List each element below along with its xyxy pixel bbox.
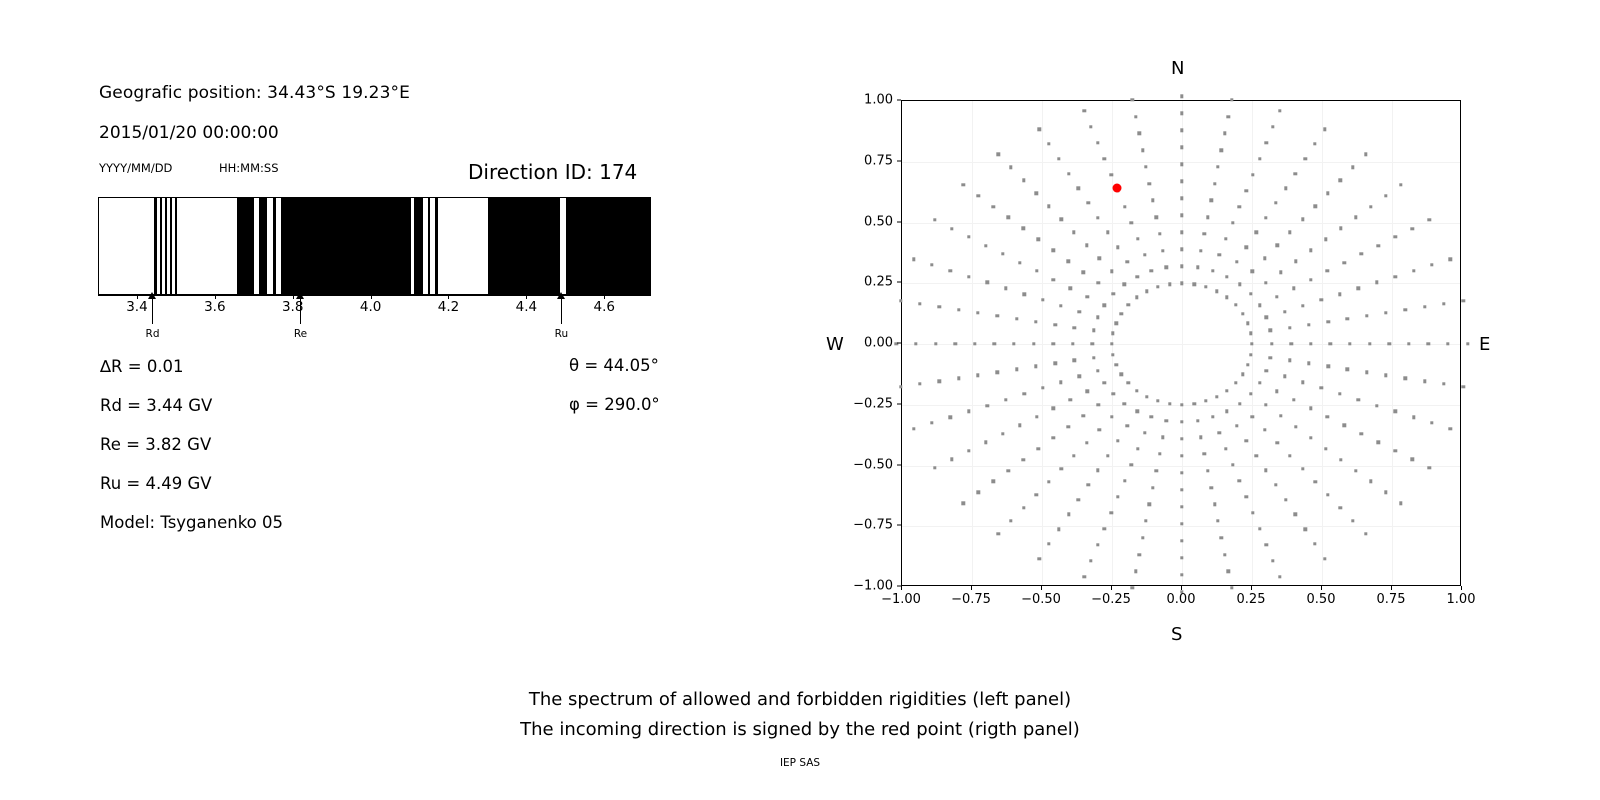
direction-point (1264, 281, 1267, 284)
direction-point (1442, 382, 1445, 385)
direction-point (1238, 479, 1241, 482)
direction-point (1301, 218, 1304, 221)
direction-point (1156, 285, 1159, 288)
gridline-horizontal (902, 466, 1460, 467)
direction-point (1151, 486, 1154, 489)
direction-point (1399, 502, 1402, 505)
direction-point (1009, 519, 1012, 522)
direction-point (1313, 480, 1316, 483)
direction-point (986, 404, 989, 407)
direction-point (1360, 252, 1363, 255)
gridline-vertical (1182, 101, 1183, 585)
direction-point (1096, 543, 1099, 546)
direction-point (1053, 323, 1056, 326)
direction-point (1412, 415, 1415, 418)
direction-point (1116, 245, 1119, 248)
direction-point (1097, 403, 1100, 406)
direction-point (1180, 214, 1183, 217)
direction-point (1351, 165, 1354, 168)
direction-point (1249, 353, 1252, 356)
direction-point (1083, 575, 1086, 578)
direction-point (1369, 480, 1372, 483)
direction-point (1165, 419, 1168, 422)
direction-point (1360, 432, 1363, 435)
direction-point (1307, 362, 1310, 365)
direction-point (1278, 575, 1281, 578)
direction-point (1131, 586, 1134, 589)
direction-point (976, 374, 979, 377)
direction-point (1430, 421, 1433, 424)
direction-point (1326, 192, 1329, 195)
param-ru: Ru = 4.49 GV (100, 474, 212, 493)
direction-point (1258, 381, 1261, 384)
direction-point (1294, 172, 1297, 175)
direction-point (1078, 375, 1081, 378)
direction-point (1086, 390, 1089, 393)
direction-point (1213, 503, 1216, 506)
direction-point (1393, 275, 1396, 278)
direction-point (1116, 495, 1119, 498)
direction-point (1089, 559, 1092, 562)
direction-point (1180, 539, 1183, 542)
direction-point (1180, 94, 1183, 97)
direction-point (967, 410, 970, 413)
direction-point (1096, 369, 1099, 372)
direction-point (1022, 392, 1025, 395)
direction-point (1035, 192, 1038, 195)
direction-point (1059, 381, 1062, 384)
direction-point (1007, 469, 1010, 472)
direction-point (1394, 449, 1397, 452)
direction-point (1209, 486, 1212, 489)
direction-point (1083, 109, 1086, 112)
direction-point (1364, 152, 1367, 155)
direction-point (1120, 373, 1123, 376)
direction-point (977, 194, 980, 197)
direction-point (1096, 316, 1099, 319)
direction-point (1047, 205, 1050, 208)
direction-point (1225, 296, 1228, 299)
direction-point (1263, 257, 1266, 260)
direction-point (1339, 458, 1342, 461)
direction-point (1111, 332, 1114, 335)
direction-point (1244, 495, 1247, 498)
direction-point (1384, 491, 1387, 494)
direction-point (1213, 182, 1216, 185)
direction-point (1001, 432, 1004, 435)
direction-point (1120, 312, 1123, 315)
direction-point (1258, 527, 1261, 530)
direction-point (950, 227, 953, 230)
direction-point (1168, 282, 1171, 285)
direction-point (1442, 302, 1445, 305)
direction-point (1196, 266, 1199, 269)
direction-point (993, 342, 996, 345)
direction-point (1309, 407, 1312, 410)
polar-x-tick-label: −0.50 (1021, 592, 1061, 607)
direction-point (1110, 415, 1113, 418)
param-re: Re = 3.82 GV (100, 435, 211, 454)
compass-east-label: E (1479, 334, 1490, 355)
direction-point (957, 376, 960, 379)
direction-point (949, 415, 952, 418)
polar-x-tick-label: 0.50 (1307, 592, 1336, 607)
direction-point (1323, 128, 1326, 131)
polar-x-tick-mark (1461, 586, 1462, 590)
direction-point (1085, 244, 1088, 247)
direction-point (967, 235, 970, 238)
direction-point (1116, 439, 1119, 442)
direction-point (1244, 189, 1247, 192)
direction-point (1144, 519, 1147, 522)
direction-point (1126, 260, 1129, 263)
direction-point (1047, 142, 1050, 145)
direction-point (1151, 199, 1154, 202)
direction-point (962, 183, 965, 186)
direction-point (1279, 270, 1282, 273)
marker-arrow-ru (555, 292, 568, 324)
direction-point (1072, 454, 1075, 457)
direction-point (1209, 199, 1212, 202)
direction-point (1430, 263, 1433, 266)
direction-point (1294, 425, 1297, 428)
direction-point (1449, 258, 1452, 261)
direction-point (1348, 342, 1351, 345)
direction-point (1404, 376, 1407, 379)
direction-point (1354, 469, 1357, 472)
direction-point (1288, 231, 1291, 234)
polar-x-tick-label: −1.00 (881, 592, 921, 607)
direction-point (933, 466, 936, 469)
spectrum-axis-tick-label: 4.2 (438, 299, 459, 315)
polar-y-tick-label: 0.50 (0, 214, 893, 229)
compass-north-label: N (1171, 58, 1184, 79)
direction-point (1270, 342, 1273, 345)
direction-point (1250, 270, 1253, 273)
direction-point (1022, 178, 1025, 181)
direction-point (1211, 415, 1214, 418)
polar-y-tick-mark (897, 221, 901, 222)
caption-line-2: The incoming direction is signed by the … (0, 719, 1600, 740)
direction-point (1263, 428, 1266, 431)
direction-point (1130, 221, 1133, 224)
spectrum-axis-tick-label: 4.4 (516, 299, 537, 315)
direction-point (1037, 238, 1040, 241)
direction-point (1230, 98, 1233, 101)
direction-point (1251, 511, 1254, 514)
direction-point (1180, 488, 1183, 491)
direction-point (1206, 469, 1209, 472)
direction-point (1047, 480, 1050, 483)
direction-point (1052, 278, 1055, 281)
direction-point (1086, 201, 1089, 204)
compass-south-label: S (1171, 624, 1182, 645)
direction-point (1279, 414, 1282, 417)
direction-point (1394, 235, 1397, 238)
direction-point (1254, 454, 1257, 457)
spectrum-axis-tick-label: 3.6 (204, 299, 225, 315)
direction-point (1351, 519, 1354, 522)
direction-point (1320, 386, 1323, 389)
gridline-horizontal (902, 526, 1460, 527)
direction-point (973, 342, 976, 345)
polar-y-tick-mark (897, 100, 901, 101)
direction-point (1165, 266, 1168, 269)
direction-point (1283, 310, 1286, 313)
direction-point (1037, 128, 1040, 131)
direction-point (1364, 532, 1367, 535)
direction-point (1018, 424, 1021, 427)
direction-point (1097, 281, 1100, 284)
direction-point (1323, 557, 1326, 560)
direction-point (996, 371, 999, 374)
direction-point (1180, 196, 1183, 199)
direction-point (1224, 447, 1227, 450)
direction-point (953, 342, 956, 345)
param-delta-r: ∆R = 0.01 (100, 357, 184, 376)
direction-point (1018, 261, 1021, 264)
direction-point (1071, 342, 1074, 345)
direction-point (1180, 573, 1183, 576)
datetime-label: 2015/01/20 00:00:00 (99, 123, 279, 143)
direction-point (914, 342, 917, 345)
direction-point (1276, 441, 1279, 444)
gridline-vertical (1392, 101, 1393, 585)
direction-point (1224, 237, 1227, 240)
direction-point (1265, 543, 1268, 546)
direction-point (1234, 381, 1237, 384)
direction-point (1130, 463, 1133, 466)
direction-point (1377, 441, 1380, 444)
direction-point (1053, 362, 1056, 365)
direction-point (1103, 381, 1106, 384)
polar-x-tick-mark (1111, 586, 1112, 590)
polar-x-tick-mark (1181, 586, 1182, 590)
direction-point (1288, 454, 1291, 457)
direction-point (1278, 109, 1281, 112)
direction-point (1134, 115, 1137, 118)
direction-point (1092, 356, 1095, 359)
direction-point (930, 421, 933, 424)
direction-point (984, 441, 987, 444)
direction-point (1145, 290, 1148, 293)
direction-point (1143, 253, 1146, 256)
incoming-direction-chart (901, 100, 1461, 586)
direction-point (1246, 363, 1249, 366)
direction-point (1096, 141, 1099, 144)
direction-point (1009, 165, 1012, 168)
direction-point (1192, 282, 1195, 285)
direction-point (1241, 312, 1244, 315)
direction-point (1148, 182, 1151, 185)
direction-point (1375, 404, 1378, 407)
direction-point (1411, 458, 1414, 461)
direction-point (977, 491, 980, 494)
direction-point (918, 382, 921, 385)
direction-point (1245, 245, 1248, 248)
direction-point (1230, 586, 1233, 589)
direction-point (1294, 260, 1297, 263)
direction-point (1313, 542, 1316, 545)
direction-point (1155, 469, 1158, 472)
direction-point (1127, 381, 1130, 384)
polar-x-tick-label: −0.75 (951, 592, 991, 607)
direction-point (1203, 232, 1206, 235)
direction-point (1168, 402, 1171, 405)
direction-point (1241, 373, 1244, 376)
direction-point (1365, 371, 1368, 374)
direction-point (1238, 283, 1241, 286)
direction-point (1265, 141, 1268, 144)
direction-point (1343, 261, 1346, 264)
direction-point (933, 218, 936, 221)
polar-x-tick-mark (1251, 586, 1252, 590)
direction-point (1462, 385, 1465, 388)
polar-y-tick-mark (897, 160, 901, 161)
caption-line-1: The spectrum of allowed and forbidden ri… (0, 689, 1600, 710)
direction-point (1069, 286, 1072, 289)
polar-x-tick-mark (1391, 586, 1392, 590)
direction-point (1123, 205, 1126, 208)
direction-point (1206, 215, 1209, 218)
direction-point (1326, 365, 1329, 368)
direction-point (1022, 458, 1025, 461)
direction-point (1085, 441, 1088, 444)
direction-point (1428, 218, 1431, 221)
polar-x-tick-label: 0.25 (1237, 592, 1266, 607)
direction-point (1339, 178, 1342, 181)
direction-point (1136, 237, 1139, 240)
direction-point (1135, 389, 1138, 392)
direction-point (1365, 314, 1368, 317)
direction-point (1057, 157, 1060, 160)
direction-point (1407, 342, 1410, 345)
direction-point (1339, 506, 1342, 509)
direction-point (1225, 410, 1228, 413)
gridline-vertical (1042, 101, 1043, 585)
direction-point (1141, 148, 1144, 151)
direction-point (1288, 326, 1291, 329)
direction-point (938, 379, 941, 382)
direction-point (1283, 375, 1286, 378)
direction-point (1238, 402, 1241, 405)
direction-point (1423, 379, 1426, 382)
direction-point (1078, 310, 1081, 313)
direction-point (1387, 342, 1390, 345)
direction-point (1034, 365, 1037, 368)
direction-point (1324, 238, 1327, 241)
direction-point (1001, 252, 1004, 255)
direction-point (1180, 437, 1183, 440)
direction-point (1423, 305, 1426, 308)
direction-point (967, 449, 970, 452)
direction-point (1309, 342, 1312, 345)
direction-point (1462, 299, 1465, 302)
direction-point (1082, 270, 1085, 273)
spectrum-axis-tick-label: 4.0 (360, 299, 381, 315)
direction-point (1264, 369, 1267, 372)
direction-point (1269, 356, 1272, 359)
direction-point (1250, 342, 1253, 345)
direction-point (1250, 415, 1253, 418)
direction-point (957, 308, 960, 311)
direction-point (1077, 498, 1080, 501)
direction-point (1246, 322, 1249, 325)
direction-point (1127, 303, 1130, 306)
direction-point (1115, 363, 1118, 366)
direction-point (1226, 570, 1229, 573)
direction-point (1098, 257, 1101, 260)
direction-point (1384, 374, 1387, 377)
direction-point (1412, 269, 1415, 272)
direction-point (1225, 275, 1228, 278)
direction-point (1292, 398, 1295, 401)
direction-point (1301, 304, 1304, 307)
direction-point (1103, 157, 1106, 160)
direction-point (1249, 392, 1252, 395)
direction-point (1131, 98, 1134, 101)
direction-point (1135, 296, 1138, 299)
direction-point (1223, 132, 1226, 135)
spectrum-axis-tick-label: 3.4 (126, 299, 147, 315)
direction-point (912, 427, 915, 430)
direction-point (984, 244, 987, 247)
direction-point (1134, 570, 1137, 573)
direction-point (1271, 125, 1274, 128)
direction-point (918, 302, 921, 305)
direction-point (1274, 201, 1277, 204)
polar-x-tick-mark (901, 586, 902, 590)
direction-point (949, 269, 952, 272)
direction-point (1357, 287, 1360, 290)
direction-point (967, 275, 970, 278)
direction-point (1180, 420, 1183, 423)
direction-point (1135, 410, 1138, 413)
direction-point (1022, 292, 1025, 295)
polar-x-tick-label: 0.00 (1167, 592, 1196, 607)
direction-point (1264, 403, 1267, 406)
direction-point (1231, 221, 1234, 224)
direction-point (1338, 392, 1341, 395)
direction-point (1377, 244, 1380, 247)
direction-point (1136, 447, 1139, 450)
direction-point (1326, 320, 1329, 323)
direction-point (1051, 342, 1054, 345)
direction-point (1384, 311, 1387, 314)
direction-point (1077, 187, 1080, 190)
direction-point (1123, 283, 1126, 286)
direction-point (1393, 410, 1396, 413)
polar-x-tick-mark (1321, 586, 1322, 590)
polar-y-tick-label: −0.25 (0, 396, 893, 411)
direction-point (1037, 557, 1040, 560)
direction-point (1211, 269, 1214, 272)
direction-point (1324, 447, 1327, 450)
direction-point (1216, 165, 1219, 168)
direction-point (1199, 249, 1202, 252)
direction-point (1274, 483, 1277, 486)
direction-point (1301, 467, 1304, 470)
direction-point (1343, 424, 1346, 427)
incoming-direction-point (1113, 183, 1122, 192)
direction-point (1069, 398, 1072, 401)
direction-point (1004, 287, 1007, 290)
direction-point (1180, 556, 1183, 559)
direction-point (1284, 498, 1287, 501)
direction-point (1301, 381, 1304, 384)
direction-point (1073, 326, 1076, 329)
direction-point (1218, 431, 1221, 434)
